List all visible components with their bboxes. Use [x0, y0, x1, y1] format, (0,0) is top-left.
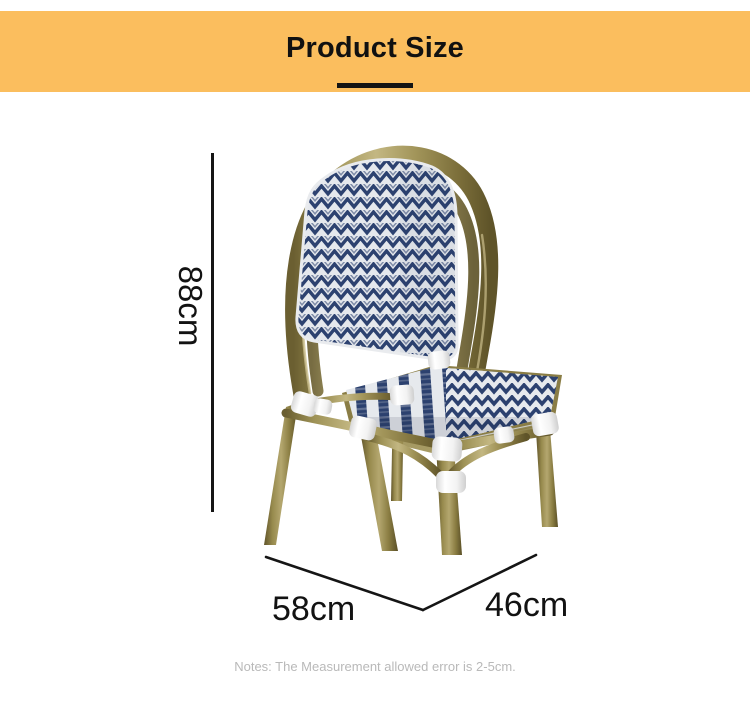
- chair-illustration: [250, 145, 566, 555]
- product-size-infographic: Product Size: [0, 0, 750, 701]
- header-banner: Product Size: [0, 11, 750, 92]
- chair-backrest-weave: [280, 145, 480, 375]
- page-title: Product Size: [0, 31, 750, 65]
- depth-dimension-label: 46cm: [485, 586, 568, 624]
- height-dimension-label: 88cm: [171, 258, 209, 354]
- title-underline-rule: [337, 83, 413, 88]
- width-dimension-label: 58cm: [272, 590, 355, 628]
- chair-leg-rear-left: [264, 403, 298, 545]
- height-dimension-line: [211, 153, 214, 512]
- product-photo: [250, 145, 566, 555]
- measurement-notes: Notes: The Measurement allowed error is …: [0, 658, 750, 675]
- chair-leg-side-right: [536, 429, 558, 527]
- chair-leg-front-right: [436, 445, 462, 555]
